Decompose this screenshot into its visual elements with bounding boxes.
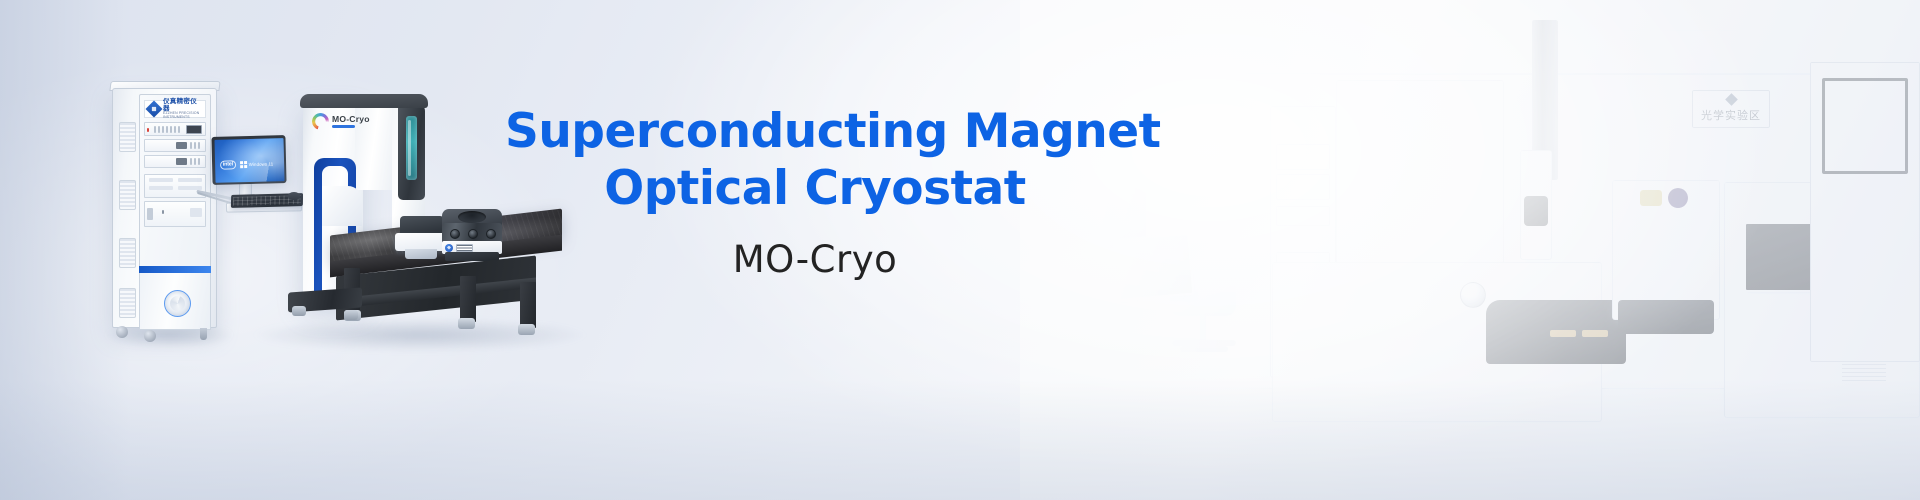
banner-copy: Superconducting Magnet Optical Cryostat … [505,104,1125,281]
gantry-top-cap [300,94,428,108]
tool-label-strip [1846,212,1880,221]
rack-slot [1276,144,1330,170]
wall-seam [1320,74,1920,75]
background-process-tool [1336,80,1504,348]
cryostat-optical-port [486,229,496,239]
tool-open-lid [1612,180,1720,320]
background-right-tool [1724,182,1920,418]
hazard-label [1640,190,1662,206]
rack-slot [1276,282,1330,306]
office-chair-seat [1170,272,1236,316]
tool-label-strip [1846,322,1880,331]
warning-sticker [1582,330,1608,337]
cryostat-module [442,209,502,261]
cryostat-brand-icon [445,244,453,252]
ceiling-light-panel [1420,16,1570,36]
product-banner: 光学实验区 仪真精密仪器 EZZHEN PRECISION INSTRUMENT… [0,0,1920,500]
office-chair-base [1180,346,1228,352]
warning-sticker [1550,330,1576,337]
instrument-logo-bar [332,125,355,128]
instrument-shadow [250,318,590,352]
wall-sign: 光学实验区 [1692,90,1770,128]
hazard-label-round [1668,188,1688,208]
table-leg [460,276,476,322]
wall-sign-label: 光学实验区 [1701,107,1761,123]
headline-line-2: Optical Cryostat [505,161,1125,218]
exhaust-duct [1532,20,1558,180]
cabinet-vent [1044,290,1128,350]
background-desk-cabinet [1034,268,1138,380]
lab-floor [1020,388,1920,500]
ceiling-light-panel [1180,12,1370,38]
table-leg [520,282,536,328]
tool-vent [1842,340,1886,384]
page-title: Superconducting Magnet Optical Cryostat [505,104,1125,218]
tool-loadport [1618,300,1714,334]
tool-front-cowl [1486,300,1626,364]
gantry-plinth-foot [344,310,358,320]
rack-slot [1276,252,1330,276]
gantry-indicator-window [406,116,417,180]
rack-slot [1276,206,1330,226]
spectrum-arc-icon [312,113,329,130]
tool-optics-head [1524,196,1548,226]
tool-upper-arm [1520,150,1552,260]
tool-dial [1460,282,1486,308]
tool-lower-deck [1272,262,1602,422]
gantry-plinth-foot [292,306,306,316]
cleanroom-door [1810,62,1920,362]
laboratory-background-photo: 光学实验区 [1020,0,1920,500]
door-window [1822,78,1908,174]
ceiling-light-panel [1620,14,1740,30]
background-touch-panel [1113,233,1194,301]
office-chair-base [1172,340,1236,346]
background-instrument-rack [1270,106,1336,378]
headline-line-1: Superconducting Magnet [505,104,1161,159]
rack-slot [1276,174,1330,200]
instrument-logo-name: MO-Cryo [332,115,370,124]
sign-logo-mark [1725,93,1738,106]
cryostat-optical-port [450,229,460,239]
lab-wall [1020,0,1920,500]
cryostat-bore [458,211,486,223]
office-chair-stem [1200,312,1206,342]
rack-slot [1276,312,1330,336]
instrument-logo: MO-Cryo [312,113,370,130]
lab-ceiling [1020,0,1920,74]
table-isolation-pad [518,324,535,335]
table-isolation-pad [458,318,475,329]
tool-viewport [1744,222,1832,292]
wall-seam [1450,80,1451,380]
gantry-arch-lip [322,186,362,226]
cryostat-optical-port [468,229,478,239]
product-model-subtitle: MO-Cryo [505,238,1125,281]
objective-grip [405,249,437,259]
cryostat-spec-label [456,244,473,252]
